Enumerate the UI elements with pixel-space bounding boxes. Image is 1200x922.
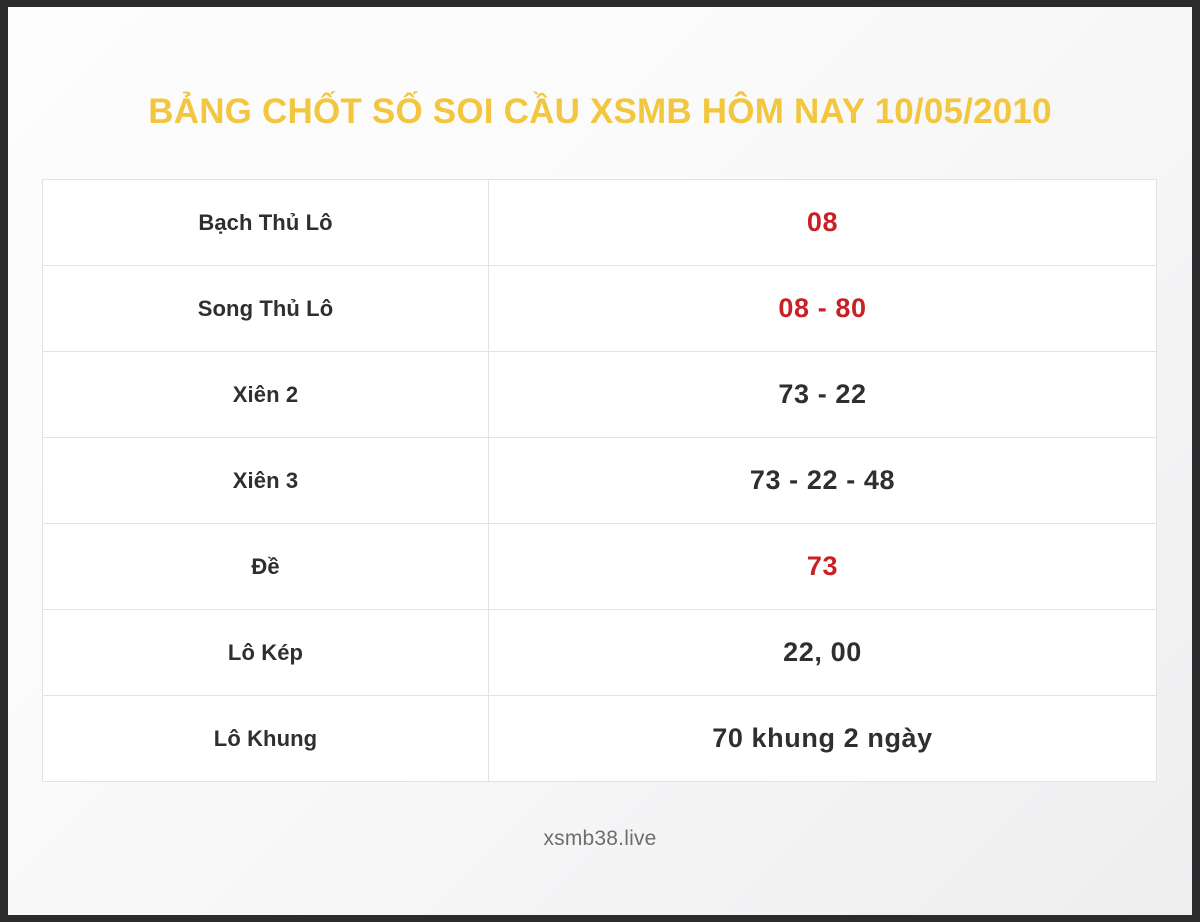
row-label: Xiên 3 bbox=[43, 438, 489, 524]
table-row: Xiên 2 73 - 22 bbox=[43, 352, 1157, 438]
row-label: Song Thủ Lô bbox=[43, 266, 489, 352]
table-row: Bạch Thủ Lô 08 bbox=[43, 180, 1157, 266]
page-frame: BẢNG CHỐT SỐ SOI CẦU XSMB HÔM NAY 10/05/… bbox=[8, 7, 1192, 915]
row-value: 73 - 22 bbox=[489, 352, 1157, 438]
page-title: BẢNG CHỐT SỐ SOI CẦU XSMB HÔM NAY 10/05/… bbox=[8, 93, 1192, 132]
site-footer: xsmb38.live bbox=[8, 827, 1192, 851]
table-row: Song Thủ Lô 08 - 80 bbox=[43, 266, 1157, 352]
table-row: Đề 73 bbox=[43, 524, 1157, 610]
row-value: 70 khung 2 ngày bbox=[489, 696, 1157, 782]
row-value: 73 - 22 - 48 bbox=[489, 438, 1157, 524]
table-row: Lô Kép 22, 00 bbox=[43, 610, 1157, 696]
row-label: Lô Kép bbox=[43, 610, 489, 696]
row-value: 08 - 80 bbox=[489, 266, 1157, 352]
row-value: 73 bbox=[489, 524, 1157, 610]
row-label: Xiên 2 bbox=[43, 352, 489, 438]
prediction-table: Bạch Thủ Lô 08 Song Thủ Lô 08 - 80 Xiên … bbox=[42, 179, 1157, 782]
row-value: 08 bbox=[489, 180, 1157, 266]
row-value: 22, 00 bbox=[489, 610, 1157, 696]
row-label: Đề bbox=[43, 524, 489, 610]
row-label: Lô Khung bbox=[43, 696, 489, 782]
table-row: Lô Khung 70 khung 2 ngày bbox=[43, 696, 1157, 782]
table-row: Xiên 3 73 - 22 - 48 bbox=[43, 438, 1157, 524]
row-label: Bạch Thủ Lô bbox=[43, 180, 489, 266]
